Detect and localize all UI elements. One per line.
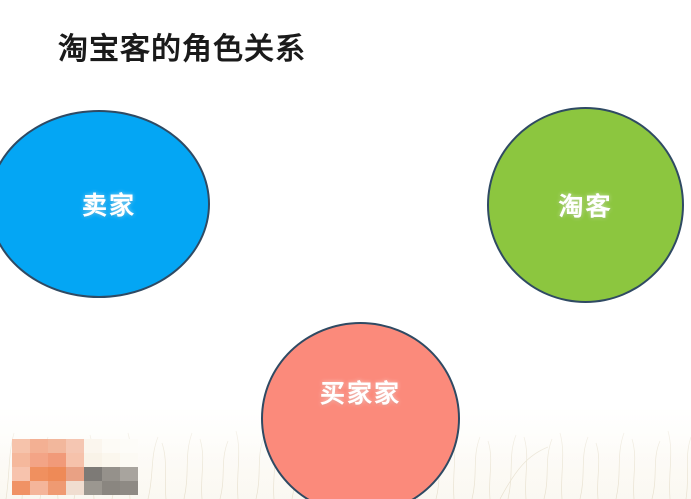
watermark-tile	[12, 481, 30, 495]
watermark-tile	[30, 481, 48, 495]
node-taoke[interactable]: 淘客	[487, 107, 684, 303]
node-taoke-label: 淘客	[558, 187, 612, 223]
page-title: 淘宝客的角色关系	[58, 31, 306, 69]
watermark-tile	[30, 467, 48, 481]
watermark-tile	[102, 453, 120, 467]
pixelated-watermark	[12, 439, 138, 495]
watermark-tile	[12, 467, 30, 481]
watermark-tile	[66, 453, 84, 467]
watermark-tile	[66, 439, 84, 453]
watermark-tile	[48, 481, 66, 495]
watermark-tile	[30, 453, 48, 467]
node-buyer[interactable]: 买家家	[261, 322, 460, 499]
watermark-tile	[120, 467, 138, 481]
watermark-tile	[102, 467, 120, 481]
watermark-tile	[48, 453, 66, 467]
watermark-tile	[66, 481, 84, 495]
watermark-tile	[84, 439, 102, 453]
node-seller-label: 卖家	[82, 186, 136, 222]
watermark-tile	[30, 439, 48, 453]
watermark-tile	[84, 453, 102, 467]
watermark-tile	[120, 439, 138, 453]
watermark-tile	[84, 481, 102, 495]
watermark-tile	[102, 481, 120, 495]
watermark-tile	[120, 453, 138, 467]
node-seller[interactable]: 卖家	[0, 110, 210, 298]
watermark-tile	[48, 467, 66, 481]
watermark-tile	[66, 467, 84, 481]
watermark-tile	[84, 467, 102, 481]
slide-canvas: 淘宝客的角色关系 卖家 淘客 买家家	[0, 0, 691, 499]
watermark-tile	[12, 453, 30, 467]
node-buyer-label: 买家家	[320, 374, 401, 410]
watermark-tile	[120, 481, 138, 495]
watermark-tile	[102, 439, 120, 453]
watermark-tile	[12, 439, 30, 453]
watermark-tile	[48, 439, 66, 453]
